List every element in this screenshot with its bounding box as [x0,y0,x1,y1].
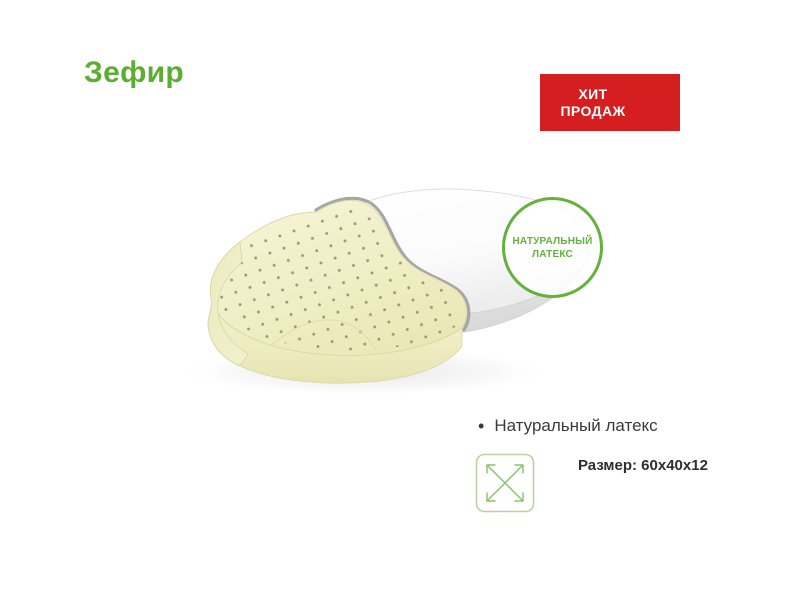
natural-latex-badge: НАТУРАЛЬНЫЙ ЛАТЕКС [502,197,603,298]
feature-list: • Натуральный латекс [478,414,778,438]
bullet-icon: • [478,414,484,438]
ribbon-text-group: ХИТ ПРОДАЖ [540,74,646,131]
product-image-canvas: Зефир ХИТ ПРОДАЖ [0,0,800,592]
ribbon-line-2: ПРОДАЖ [560,103,625,120]
feature-label: Натуральный латекс [494,414,657,438]
bestseller-ribbon-badge: ХИТ ПРОДАЖ [540,74,680,131]
ribbon-line-1: ХИТ [578,86,607,103]
dimensions-arrows-icon [474,452,536,514]
page-title: Зефир [84,58,184,88]
latex-badge-line-2: ЛАТЕКС [532,248,573,261]
list-item: • Натуральный латекс [478,414,778,438]
size-label: Размер: 60x40x12 [578,456,708,476]
latex-badge-line-1: НАТУРАЛЬНЫЙ [512,235,592,248]
size-block: Размер: 60x40x12 [474,452,774,530]
